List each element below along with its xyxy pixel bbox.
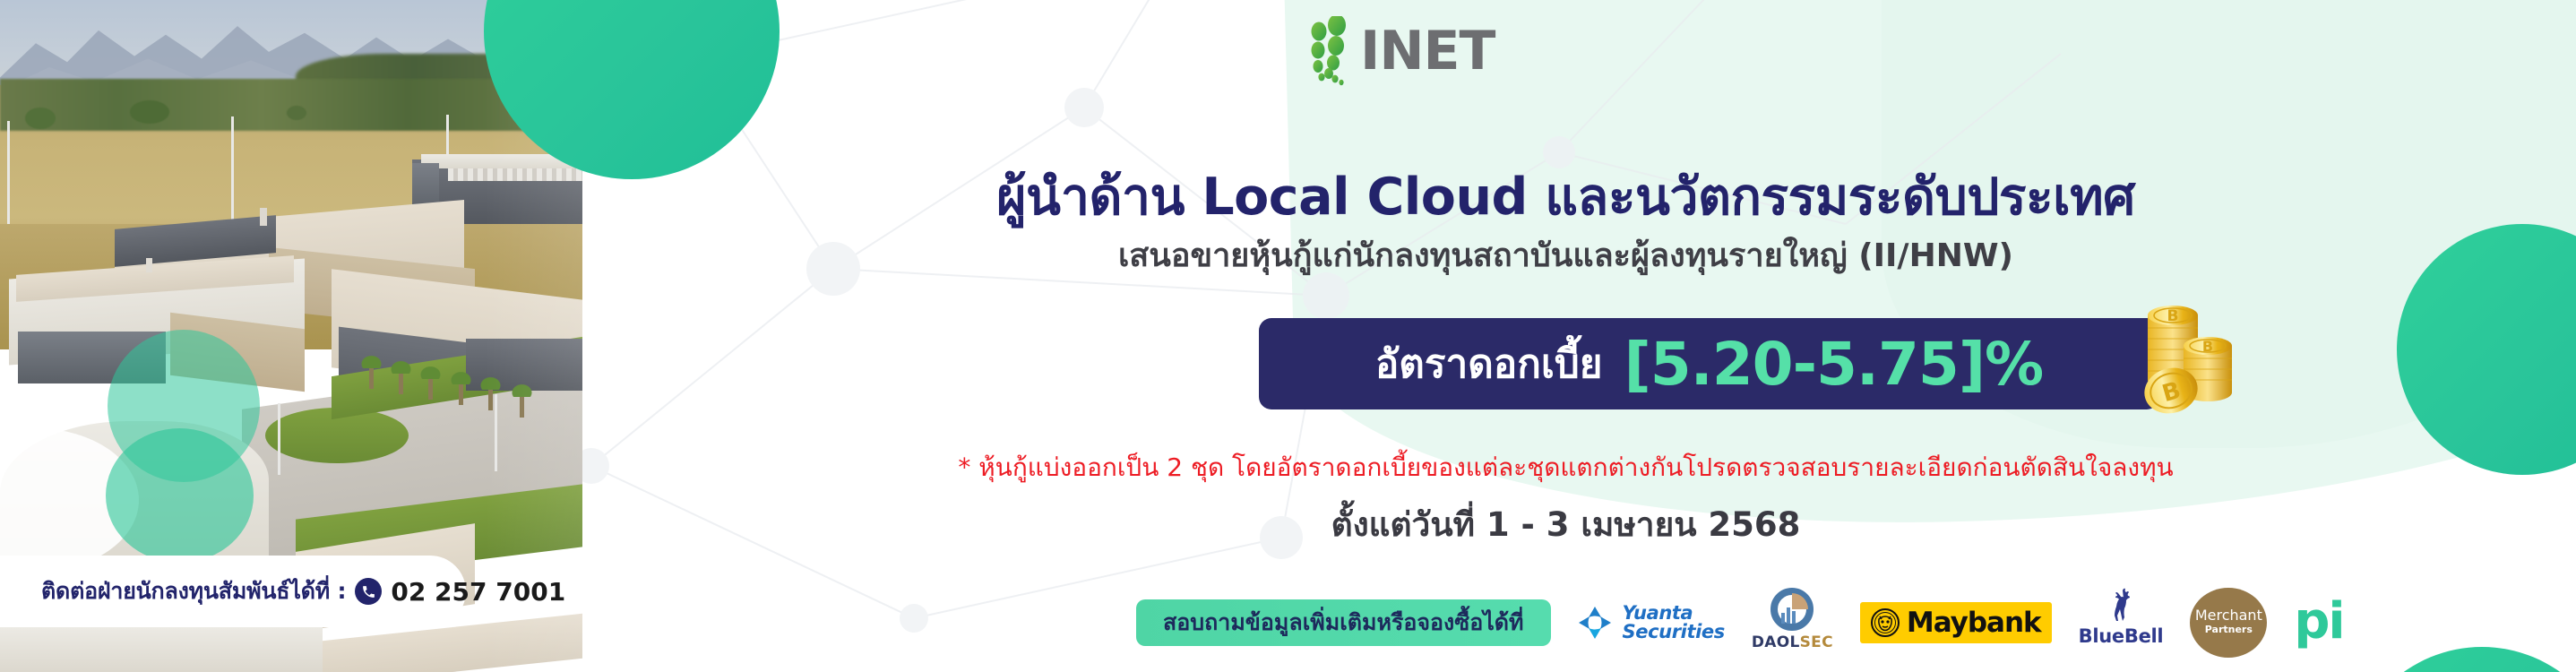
pi-wordmark-icon: pi [2294,602,2343,642]
investor-relations-contact-box: ติดต่อฝ่ายนักลงทุนสัมพันธ์ได้ที่ : 02 25… [0,556,466,627]
main-content: INET ผู้นำด้าน Local Cloud และนวัตกรรมระ… [556,0,2576,672]
partner-logos: Yuanta Securities DAOLSEC [1576,588,2344,658]
inet-bond-offering-banner: ติดต่อฝ่ายนักลงทุนสัมพันธ์ได้ที่ : 02 25… [0,0,2576,672]
svg-text:B: B [2202,338,2213,355]
gold-bitcoin-coins-icon: B B [2128,296,2244,417]
partner-merchant-line2: Partners [2205,623,2253,636]
page-title: ผู้นำด้าน Local Cloud และนวัตกรรมระดับปร… [556,157,2576,237]
partner-logo-merchant-partners[interactable]: Merchant Partners [2190,588,2267,658]
daol-chart-circle-icon [1769,588,1815,631]
partner-logo-bluebell[interactable]: BlueBell [2079,588,2164,658]
svg-text:B: B [2167,307,2179,325]
interest-rate-label: อัตราดอกเบี้ย [1375,332,1603,395]
maybank-tiger-icon [1871,608,1900,637]
disclaimer-note: * หุ้นกู้แบ่งออกเป็น 2 ชุด โดยอัตราดอกเบ… [556,448,2576,487]
page-subtitle: เสนอขายหุ้นกู้แก่นักลงทุนสถาบันและผู้ลงท… [556,229,2576,280]
partner-logo-maybank[interactable]: Maybank [1860,588,2052,658]
partner-logo-yuanta[interactable]: Yuanta Securities [1576,588,1725,658]
interest-rate-box: อัตราดอกเบี้ย [5.20-5.75]% [1259,318,2159,409]
inquire-or-subscribe-button[interactable]: สอบถามข้อมูลเพิ่มเติมหรือจองซื้อได้ที่ [1136,599,1551,646]
partner-daol-line2: SEC [1800,633,1833,651]
partner-maybank-label: Maybank [1907,607,2041,639]
partner-merchant-line1: Merchant [2195,608,2262,623]
contact-phone-number[interactable]: 02 257 7001 [391,577,565,607]
phone-icon [355,578,382,605]
partner-logo-pi[interactable]: pi [2294,588,2343,658]
partner-yuanta-line2: Securities [1623,623,1725,641]
partner-bluebell-label: BlueBell [2079,625,2164,647]
offering-dateline: ตั้งแต่วันที่ 1 - 3 เมษายน 2568 [556,498,2576,551]
partner-yuanta-line1: Yuanta [1623,604,1725,622]
merchant-partners-circle-icon: Merchant Partners [2190,588,2267,658]
bluebell-deer-icon [2102,588,2140,624]
bottom-row: สอบถามข้อมูลเพิ่มเติมหรือจองซื้อได้ที่ Y… [556,584,2576,660]
partner-logo-daolsec[interactable]: DAOLSEC [1752,588,1833,658]
inet-logo-text: INET [1360,24,1495,78]
partner-daol-line1: DAOL [1752,633,1800,651]
interest-rate-value: [5.20-5.75]% [1624,330,2044,399]
inet-logo: INET [1299,16,1495,86]
inet-leaf-dots-logo-icon [1299,16,1355,86]
contact-label: ติดต่อฝ่ายนักลงทุนสัมพันธ์ได้ที่ : [41,573,346,609]
yuanta-star-icon [1576,604,1614,642]
green-circle-overlay-photo-2 [106,428,254,563]
